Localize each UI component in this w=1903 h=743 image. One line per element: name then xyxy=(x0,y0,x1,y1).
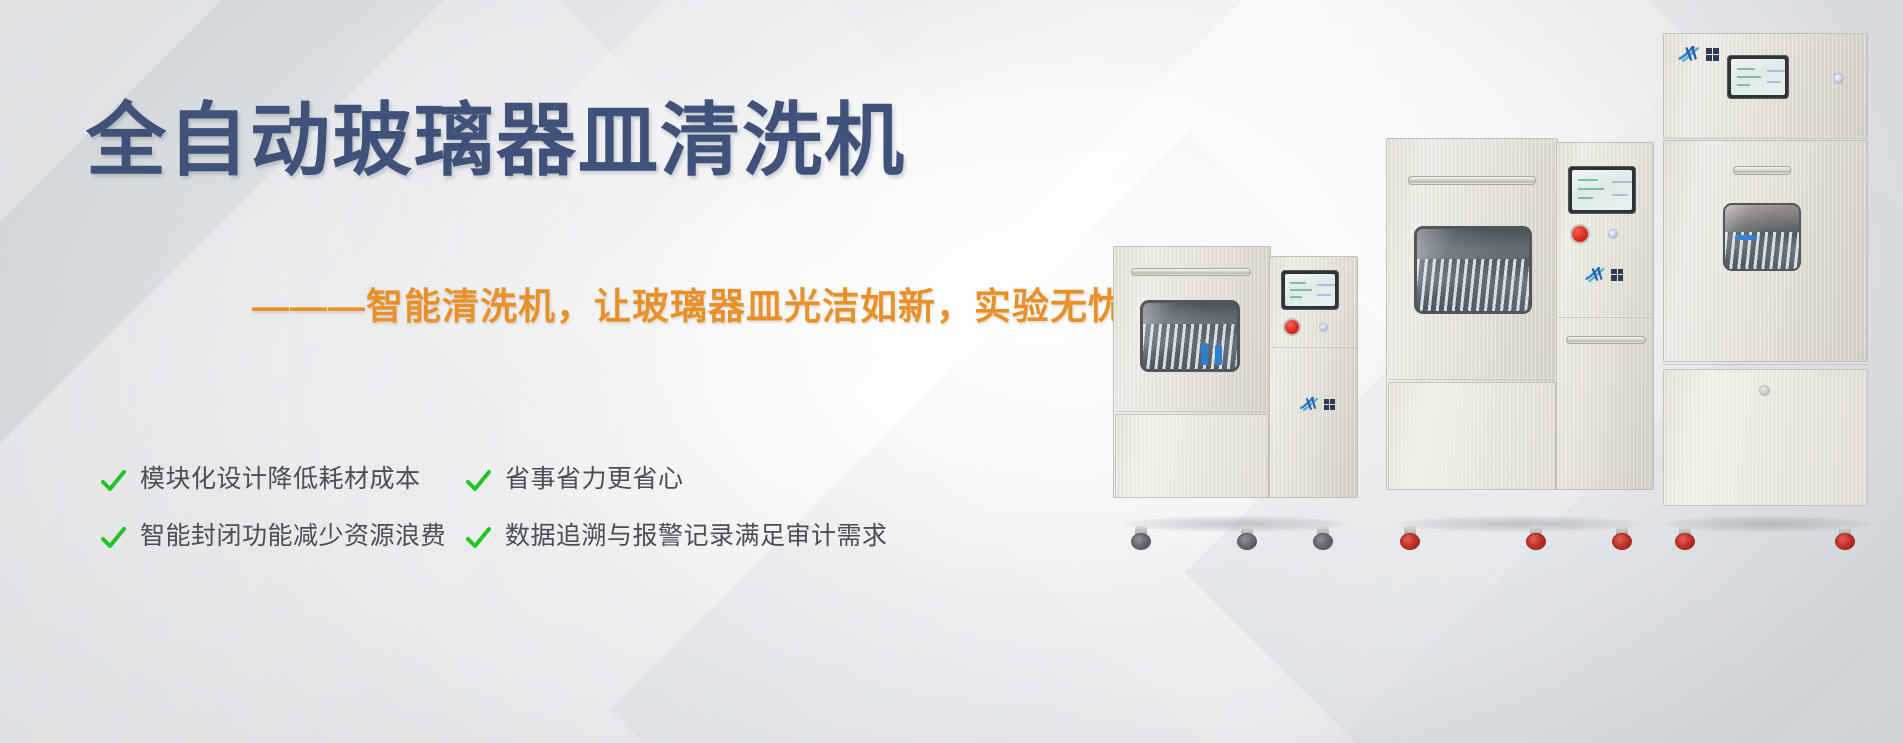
panel-seam xyxy=(1663,363,1868,365)
product-images xyxy=(0,0,1903,743)
window-glare xyxy=(1143,303,1237,369)
panel-seam xyxy=(1117,410,1267,412)
touchscreen-display xyxy=(1572,170,1632,210)
panel-seam xyxy=(1558,316,1652,318)
product-freestanding-glassware-washer xyxy=(1386,138,1654,528)
window-glare xyxy=(1417,229,1529,311)
emergency-stop-button[interactable] xyxy=(1285,320,1299,334)
product-banner: 全自动玻璃器皿清洗机 ———智能清洗机，让玻璃器皿光洁如新，实验无忧！ 模块化设… xyxy=(0,0,1903,743)
panel-seam xyxy=(1663,137,1868,139)
touchscreen[interactable] xyxy=(1568,166,1636,214)
touchscreen[interactable] xyxy=(1281,270,1339,310)
door-handle xyxy=(1408,176,1536,185)
window-glare xyxy=(1725,205,1799,269)
viewing-window xyxy=(1723,203,1801,271)
touchscreen-display xyxy=(1285,274,1335,306)
viewing-window xyxy=(1140,300,1240,372)
lower-access-panel xyxy=(1115,414,1269,498)
caster-wheel xyxy=(1131,526,1151,550)
brand-grid-icon xyxy=(1611,269,1623,281)
touchscreen-display xyxy=(1731,59,1785,95)
panel-seam xyxy=(1389,378,1555,380)
panel-seam xyxy=(1271,346,1356,348)
brand-mark-icon xyxy=(1299,396,1321,412)
brand-mark-icon xyxy=(1677,45,1703,63)
product-tall-column-glassware-washer xyxy=(1655,33,1880,528)
brand-logo xyxy=(1677,45,1719,63)
power-button[interactable] xyxy=(1319,323,1328,332)
lower-access-panel xyxy=(1388,382,1556,490)
power-button[interactable] xyxy=(1833,73,1844,84)
caster-wheel xyxy=(1612,526,1632,550)
power-button[interactable] xyxy=(1608,229,1618,239)
caster-wheel xyxy=(1675,526,1695,550)
brand-logo xyxy=(1584,266,1623,283)
caster-wheel xyxy=(1526,526,1546,550)
caster-wheel xyxy=(1400,526,1420,550)
caster-wheel xyxy=(1313,526,1333,550)
door-handle xyxy=(1733,166,1791,175)
caster-wheel xyxy=(1835,526,1855,550)
touchscreen[interactable] xyxy=(1727,55,1789,99)
brand-grid-icon xyxy=(1324,399,1335,410)
viewing-window xyxy=(1414,226,1532,314)
lower-door-handle xyxy=(1566,336,1646,344)
product-shadow xyxy=(1397,516,1644,532)
brand-mark-icon xyxy=(1584,266,1608,283)
cabinet-latch[interactable] xyxy=(1759,385,1770,396)
brand-grid-icon xyxy=(1706,48,1719,61)
product-undercounter-glassware-washer xyxy=(1113,228,1358,528)
emergency-stop-button[interactable] xyxy=(1572,226,1588,242)
door-handle xyxy=(1131,268,1251,276)
caster-wheel xyxy=(1237,526,1257,550)
brand-logo xyxy=(1299,396,1335,412)
